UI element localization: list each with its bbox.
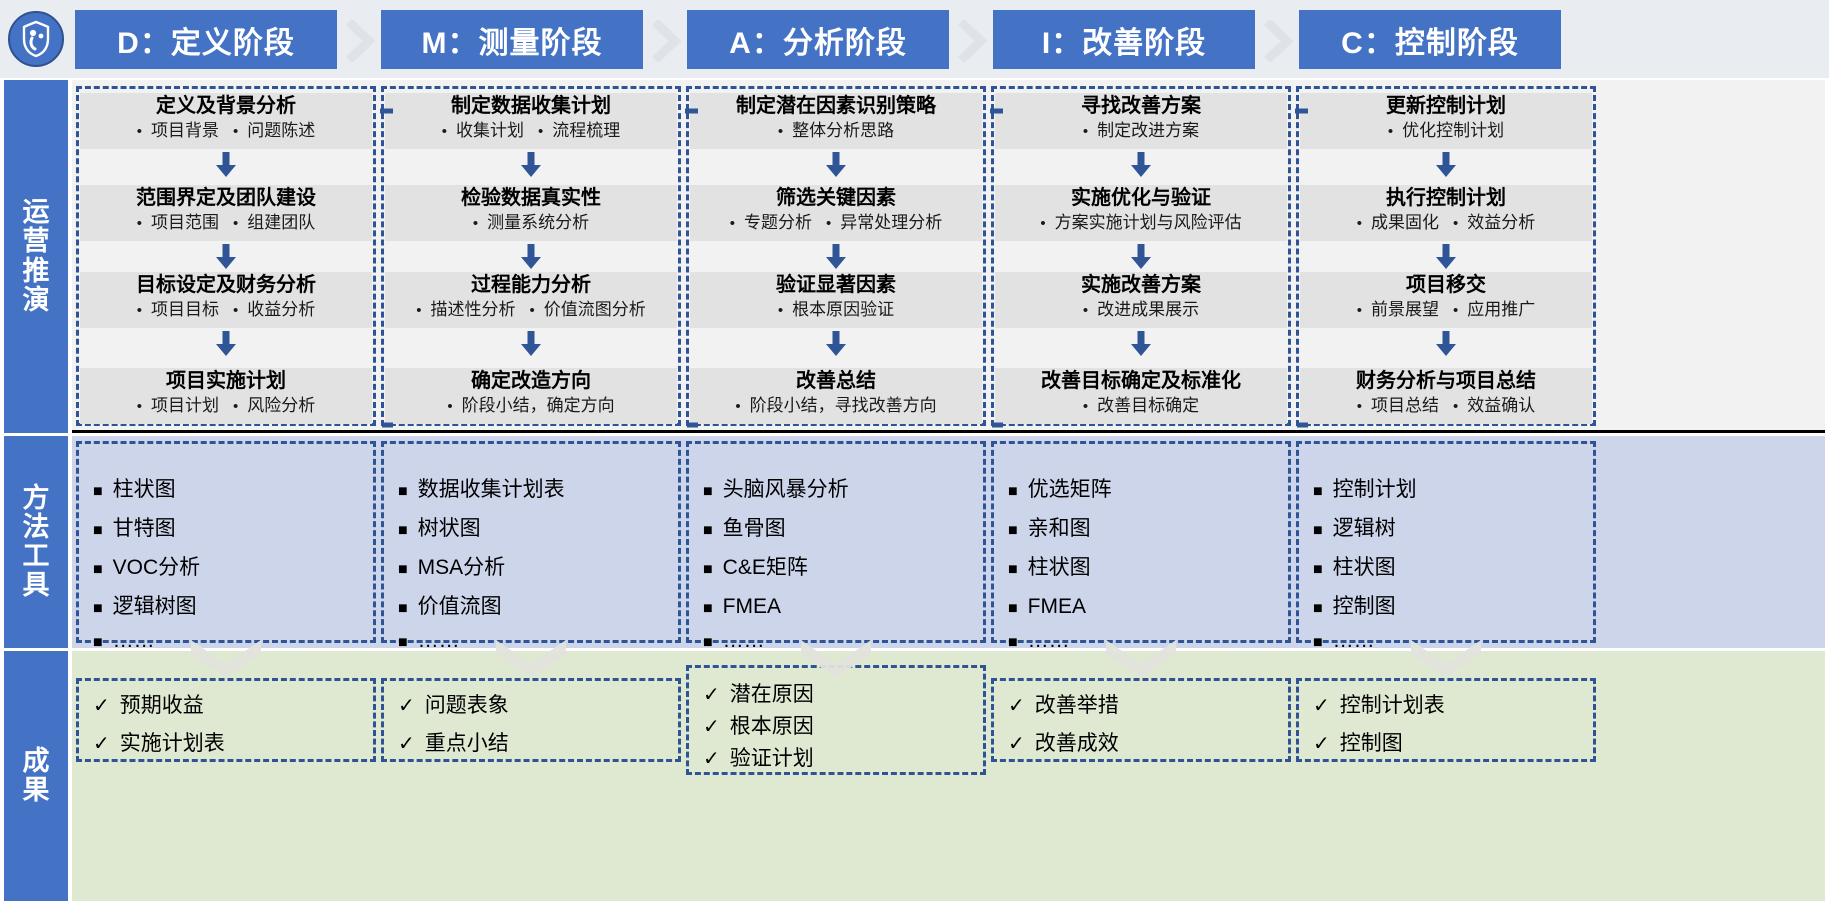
ops-step[interactable]: 定义及背景分析项目背景问题陈述 [80,93,372,149]
check-icon: ✓ [93,695,110,717]
ops-step[interactable]: 执行控制计划成果固化效益分析 [1300,185,1592,241]
ops-step[interactable]: 检验数据真实性测量系统分析 [385,185,677,241]
output-list-item-label: 重点小结 [425,732,509,755]
ops-step-sublist: 整体分析思路 [690,119,982,144]
down-arrow-icon [1130,152,1152,176]
row-label-output: 成果 [4,651,68,901]
ops-phase-box-m: 制定数据收集计划收集计划流程梳理检验数据真实性测量系统分析过程能力分析描述性分析… [381,86,681,426]
tool-list-item-label: …… [1028,629,1070,652]
bullet-square-icon: ■ [398,522,408,539]
check-icon: ✓ [93,733,110,755]
down-arrow-icon [825,152,847,176]
output-list-item-label: 潜在原因 [730,683,814,706]
tool-list-item[interactable]: ■…… [703,630,765,654]
ops-step-sublist: 根本原因验证 [690,298,982,323]
ops-step[interactable]: 实施优化与验证方案实施计划与风险评估 [995,185,1287,241]
ops-phase-box-c: 更新控制计划优化控制计划执行控制计划成果固化效益分析项目移交前景展望应用推广财务… [1296,86,1596,426]
ops-step-sub-item: 组建团队 [233,211,315,236]
chevron-right-icon [957,20,987,60]
ops-phase-box-a: 制定潜在因素识别策略整体分析思路筛选关键因素专题分析异常处理分析验证显著因素根本… [686,86,986,426]
check-icon: ✓ [703,748,720,770]
row-label-output-text: 成果 [19,747,53,805]
output-list-item[interactable]: ✓改善举措 [1008,695,1119,717]
output-list-item[interactable]: ✓重点小结 [398,733,509,755]
bullet-square-icon: ■ [398,561,408,578]
ops-step-title: 实施优化与验证 [995,185,1287,211]
ops-step[interactable]: 项目移交前景展望应用推广 [1300,272,1592,328]
output-list-item[interactable]: ✓控制计划表 [1313,695,1445,717]
down-arrow-icon [520,331,542,355]
outputs-box-m: ✓问题表象✓重点小结 [381,678,681,762]
ops-step-title: 项目移交 [1300,272,1592,298]
output-list-item[interactable]: ✓改善成效 [1008,733,1119,755]
tools-box-d: ■柱状图■甘特图■VOC分析■逻辑树图■…… [76,441,376,643]
row-label-tools-text: 方法工具 [19,484,53,601]
ops-step-sub-item: 优化控制计划 [1388,119,1504,144]
tool-list-item[interactable]: ■FMEA [703,596,781,620]
phase-header-label: A：分析阶段 [729,18,907,62]
tool-list-item[interactable]: ■…… [93,630,155,654]
ops-step-sublist: 方案实施计划与风险评估 [995,211,1287,236]
ops-step-title: 改善总结 [690,368,982,394]
shield-globe-logo [8,11,64,67]
tool-list-item-label: 柱状图 [113,478,176,501]
tool-list-item[interactable]: ■头脑风暴分析 [703,479,849,503]
check-icon: ✓ [398,695,415,717]
down-arrow-icon [215,152,237,176]
tool-list-item[interactable]: ■C&E矩阵 [703,557,808,581]
bullet-square-icon: ■ [1313,600,1323,617]
output-list-item[interactable]: ✓预期收益 [93,695,204,717]
tool-list-item[interactable]: ■逻辑树图 [93,596,197,620]
ops-step-title: 执行控制计划 [1300,185,1592,211]
bullet-square-icon: ■ [1313,561,1323,578]
bullet-square-icon: ■ [93,600,103,617]
ops-step[interactable]: 寻找改善方案制定改进方案 [995,93,1287,149]
output-list-item[interactable]: ✓验证计划 [703,748,814,770]
ops-step-sublist: 收集计划流程梳理 [385,119,677,144]
ops-step[interactable]: 目标设定及财务分析项目目标收益分析 [80,272,372,328]
row-label-ops-text: 运营推演 [19,198,53,315]
bullet-square-icon: ■ [1313,634,1323,651]
tool-list-item[interactable]: ■数据收集计划表 [398,479,565,503]
tool-list-item[interactable]: ■…… [1008,630,1070,654]
bullet-square-icon: ■ [1008,483,1018,500]
tool-list-item[interactable]: ■柱状图 [1313,557,1396,581]
ops-step-title: 制定数据收集计划 [385,93,677,119]
ops-step[interactable]: 范围界定及团队建设项目范围组建团队 [80,185,372,241]
ops-step-title: 项目实施计划 [80,368,372,394]
ops-step-sublist: 制定改进方案 [995,119,1287,144]
phase-header-a[interactable]: A：分析阶段 [687,10,949,69]
ops-step-sublist: 前景展望应用推广 [1300,298,1592,323]
ops-phase-box-d: 定义及背景分析项目背景问题陈述范围界定及团队建设项目范围组建团队目标设定及财务分… [76,86,376,426]
output-list-item-label: 问题表象 [425,694,509,717]
tool-list-item-label: 控制图 [1333,595,1396,618]
ops-step-sublist: 改进成果展示 [995,298,1287,323]
ops-step[interactable]: 过程能力分析描述性分析价值流图分析 [385,272,677,328]
ops-step-title: 更新控制计划 [1300,93,1592,119]
tool-list-item-label: 亲和图 [1028,517,1091,540]
bullet-square-icon: ■ [1008,634,1018,651]
phase-header-label: C：控制阶段 [1341,18,1519,62]
ops-step[interactable]: 改善总结阶段小结，寻找改善方向 [690,368,982,424]
output-list-item-label: 控制计划表 [1340,694,1445,717]
tools-box-i: ■优选矩阵■亲和图■柱状图■FMEA■…… [991,441,1291,643]
outputs-box-a: ✓潜在原因✓根本原因✓验证计划 [686,665,986,775]
ops-step-sub-item: 项目范围 [137,211,219,236]
output-list-item-label: 改善举措 [1035,694,1119,717]
tool-list-item-label: 控制计划 [1333,478,1417,501]
outputs-box-i: ✓改善举措✓改善成效 [991,678,1291,762]
bullet-square-icon: ■ [398,634,408,651]
ops-step-sub-item: 价值流图分析 [530,298,646,323]
ops-step-sub-item: 方案实施计划与风险评估 [1040,211,1241,236]
ops-step[interactable]: 改善目标确定及标准化改善目标确定 [995,368,1287,424]
output-list-item-label: 验证计划 [730,747,814,770]
tool-list-item-label: …… [418,629,460,652]
ops-step-sublist: 改善目标确定 [995,394,1287,419]
ops-step-title: 定义及背景分析 [80,93,372,119]
bullet-square-icon: ■ [703,561,713,578]
bullet-square-icon: ■ [93,561,103,578]
bullet-square-icon: ■ [1008,600,1018,617]
ops-step-sub-item: 专题分析 [730,211,812,236]
output-list-item-label: 根本原因 [730,715,814,738]
ops-step-sub-item: 项目背景 [137,119,219,144]
tool-list-item[interactable]: ■树状图 [398,518,481,542]
tool-list-item[interactable]: ■逻辑树 [1313,518,1396,542]
ops-step-sub-item: 流程梳理 [538,119,620,144]
ops-step-sub-item: 成果固化 [1357,211,1439,236]
phase-header-c[interactable]: C：控制阶段 [1299,10,1561,69]
tool-list-item-label: …… [723,629,765,652]
ops-step[interactable]: 确定改造方向阶段小结，确定方向 [385,368,677,424]
output-list-item[interactable]: ✓根本原因 [703,716,814,738]
down-arrow-icon [215,244,237,268]
tool-list-item-label: MSA分析 [418,556,506,579]
tools-box-c: ■控制计划■逻辑树■柱状图■控制图■…… [1296,441,1596,643]
tool-list-item[interactable]: ■柱状图 [1008,557,1091,581]
ops-step-title: 财务分析与项目总结 [1300,368,1592,394]
ops-step[interactable]: 验证显著因素根本原因验证 [690,272,982,328]
ops-step-sublist: 成果固化效益分析 [1300,211,1592,236]
check-icon: ✓ [703,684,720,706]
ops-step-title: 确定改造方向 [385,368,677,394]
ops-step-sublist: 专题分析异常处理分析 [690,211,982,236]
down-arrow-icon [825,244,847,268]
row-label-tools: 方法工具 [4,436,68,648]
tool-list-item[interactable]: ■甘特图 [93,518,176,542]
check-icon: ✓ [1008,695,1025,717]
ops-step-sub-item: 阶段小结，寻找改善方向 [735,394,936,419]
phase-header-label: D：定义阶段 [117,18,295,62]
ops-step-sublist: 项目总结效益确认 [1300,394,1592,419]
ops-step-sublist: 项目计划风险分析 [80,394,372,419]
tool-list-item[interactable]: ■VOC分析 [93,557,200,581]
down-arrow-icon [520,244,542,268]
bullet-square-icon: ■ [703,600,713,617]
bullet-square-icon: ■ [1313,522,1323,539]
tool-list-item[interactable]: ■MSA分析 [398,557,505,581]
tool-list-item-label: C&E矩阵 [723,556,808,579]
bullet-square-icon: ■ [703,522,713,539]
bullet-square-icon: ■ [398,600,408,617]
outputs-box-d: ✓预期收益✓实施计划表 [76,678,376,762]
tool-list-item-label: VOC分析 [113,556,201,579]
ops-step[interactable]: 制定潜在因素识别策略整体分析思路 [690,93,982,149]
ops-step-sub-item: 整体分析思路 [778,119,894,144]
bullet-square-icon: ■ [703,634,713,651]
ops-step-sub-item: 项目总结 [1357,394,1439,419]
output-list-item-label: 改善成效 [1035,732,1119,755]
tool-list-item[interactable]: ■亲和图 [1008,518,1091,542]
phase-header-i[interactable]: I：改善阶段 [993,10,1255,69]
phase-header-m[interactable]: M：测量阶段 [381,10,643,69]
ops-step-sub-item: 效益确认 [1453,394,1535,419]
ops-step-sublist: 项目背景问题陈述 [80,119,372,144]
output-list-item[interactable]: ✓问题表象 [398,695,509,717]
tool-list-item-label: 优选矩阵 [1028,478,1112,501]
check-icon: ✓ [1313,733,1330,755]
down-arrow-icon [520,152,542,176]
chevron-right-icon [345,20,375,60]
output-list-item[interactable]: ✓潜在原因 [703,684,814,706]
tool-list-item[interactable]: ■柱状图 [93,479,176,503]
ops-step-sub-item: 效益分析 [1453,211,1535,236]
ops-step-sub-item: 项目计划 [137,394,219,419]
ops-step-sublist: 项目目标收益分析 [80,298,372,323]
ops-step-sub-item: 应用推广 [1453,298,1535,323]
tool-list-item[interactable]: ■控制计划 [1313,479,1417,503]
tool-list-item[interactable]: ■…… [398,630,460,654]
ops-step-sub-item: 改进成果展示 [1083,298,1199,323]
tool-list-item-label: …… [113,629,155,652]
output-list-item[interactable]: ✓控制图 [1313,733,1403,755]
tool-list-item-label: 鱼骨图 [723,517,786,540]
ops-step-sub-item: 问题陈述 [233,119,315,144]
outputs-box-c: ✓控制计划表✓控制图 [1296,678,1596,762]
bullet-square-icon: ■ [93,522,103,539]
output-list-item[interactable]: ✓实施计划表 [93,733,225,755]
down-arrow-icon [1130,331,1152,355]
bullet-square-icon: ■ [93,634,103,651]
check-icon: ✓ [1008,733,1025,755]
output-list-item-label: 实施计划表 [120,732,225,755]
tool-list-item-label: 逻辑树 [1333,517,1396,540]
tool-list-item-label: FMEA [1028,595,1086,618]
tool-list-item[interactable]: ■优选矩阵 [1008,479,1112,503]
tool-list-item-label: 树状图 [418,517,481,540]
ops-step-title: 过程能力分析 [385,272,677,298]
output-list-item-label: 控制图 [1340,732,1403,755]
tool-list-item-label: 柱状图 [1028,556,1091,579]
ops-step-title: 检验数据真实性 [385,185,677,211]
tool-list-item[interactable]: ■FMEA [1008,596,1086,620]
tool-list-item-label: 甘特图 [113,517,176,540]
bullet-square-icon: ■ [1008,522,1018,539]
down-arrow-icon [1130,244,1152,268]
bullet-square-icon: ■ [1008,561,1018,578]
ops-step-sublist: 阶段小结，寻找改善方向 [690,394,982,419]
phase-header-d[interactable]: D：定义阶段 [75,10,337,69]
tools-box-m: ■数据收集计划表■树状图■MSA分析■价值流图■…… [381,441,681,643]
ops-step[interactable]: 项目实施计划项目计划风险分析 [80,368,372,424]
ops-step-title: 实施改善方案 [995,272,1287,298]
tool-list-item-label: FMEA [723,595,781,618]
phase-header-label: I：改善阶段 [1042,18,1206,62]
down-arrow-icon [825,331,847,355]
ops-step-sub-item: 前景展望 [1357,298,1439,323]
ops-step-title: 范围界定及团队建设 [80,185,372,211]
ops-step[interactable]: 制定数据收集计划收集计划流程梳理 [385,93,677,149]
tool-list-item-label: 数据收集计划表 [418,478,565,501]
output-list-item-label: 预期收益 [120,694,204,717]
ops-step-title: 筛选关键因素 [690,185,982,211]
ops-step-sub-item: 改善目标确定 [1083,394,1199,419]
dmaic-roadmap-diagram: D：定义阶段M：测量阶段A：分析阶段I：改善阶段C：控制阶段 运营推演 方法工具… [0,0,1829,905]
ops-step-sub-item: 项目目标 [137,298,219,323]
tool-list-item-label: 逻辑树图 [113,595,197,618]
bullet-square-icon: ■ [1313,483,1323,500]
ops-step[interactable]: 财务分析与项目总结项目总结效益确认 [1300,368,1592,424]
ops-step-sublist: 阶段小结，确定方向 [385,394,677,419]
tool-list-item-label: 柱状图 [1333,556,1396,579]
ops-step-sub-item: 制定改进方案 [1083,119,1199,144]
down-arrow-icon [1435,244,1457,268]
ops-step-title: 寻找改善方案 [995,93,1287,119]
tool-list-item[interactable]: ■价值流图 [398,596,502,620]
down-arrow-icon [215,331,237,355]
ops-step[interactable]: 更新控制计划优化控制计划 [1300,93,1592,149]
logo-glyph [17,20,55,58]
ops-step-title: 目标设定及财务分析 [80,272,372,298]
tool-list-item-label: 价值流图 [418,595,502,618]
down-arrow-icon [1435,152,1457,176]
check-icon: ✓ [703,716,720,738]
tool-list-item[interactable]: ■控制图 [1313,596,1396,620]
ops-step-sub-item: 描述性分析 [416,298,515,323]
chevron-right-icon [651,20,681,60]
ops-step-title: 验证显著因素 [690,272,982,298]
bullet-square-icon: ■ [703,483,713,500]
ops-step[interactable]: 筛选关键因素专题分析异常处理分析 [690,185,982,241]
phase-header-label: M：测量阶段 [422,18,603,62]
check-icon: ✓ [398,733,415,755]
tool-list-item-label: …… [1333,629,1375,652]
phase-header-row: D：定义阶段M：测量阶段A：分析阶段I：改善阶段C：控制阶段 [0,0,1829,78]
bullet-square-icon: ■ [398,483,408,500]
check-icon: ✓ [1313,695,1330,717]
ops-step-sublist: 优化控制计划 [1300,119,1592,144]
tool-list-item-label: 头脑风暴分析 [723,478,849,501]
ops-step-sublist: 项目范围组建团队 [80,211,372,236]
ops-step-sub-item: 收益分析 [233,298,315,323]
ops-step-title: 制定潜在因素识别策略 [690,93,982,119]
ops-step-title: 改善目标确定及标准化 [995,368,1287,394]
ops-step-sub-item: 阶段小结，确定方向 [447,394,614,419]
ops-step-sub-item: 测量系统分析 [473,211,589,236]
ops-step-sublist: 测量系统分析 [385,211,677,236]
ops-step-sub-item: 根本原因验证 [778,298,894,323]
row-label-ops: 运营推演 [4,80,68,433]
bullet-square-icon: ■ [93,483,103,500]
ops-step-sublist: 描述性分析价值流图分析 [385,298,677,323]
ops-step-sub-item: 异常处理分析 [826,211,942,236]
tools-box-a: ■头脑风暴分析■鱼骨图■C&E矩阵■FMEA■…… [686,441,986,643]
ops-phase-box-i: 寻找改善方案制定改进方案实施优化与验证方案实施计划与风险评估实施改善方案改进成果… [991,86,1291,426]
ops-step-sub-item: 风险分析 [233,394,315,419]
ops-step[interactable]: 实施改善方案改进成果展示 [995,272,1287,328]
tool-list-item[interactable]: ■鱼骨图 [703,518,786,542]
down-arrow-icon [1435,331,1457,355]
ops-step-sub-item: 收集计划 [442,119,524,144]
chevron-right-icon [1263,20,1293,60]
tool-list-item[interactable]: ■…… [1313,630,1375,654]
